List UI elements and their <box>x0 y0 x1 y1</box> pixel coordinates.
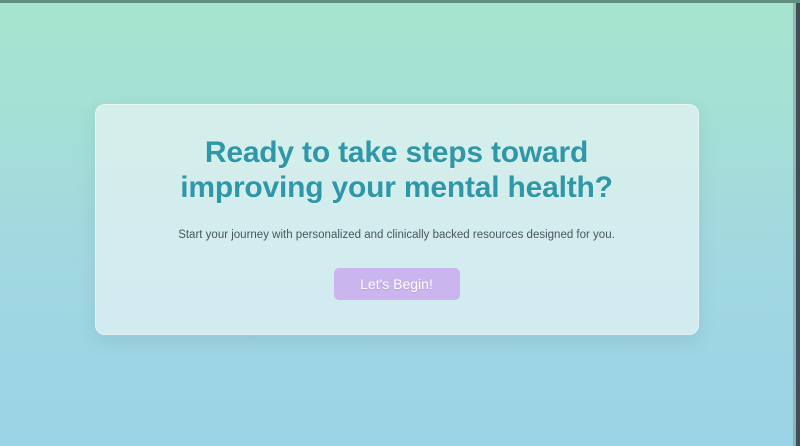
window-edge-right <box>796 0 800 446</box>
window-edge-top <box>0 0 800 3</box>
hero-section: Ready to take steps toward improving you… <box>0 0 800 446</box>
lets-begin-button[interactable]: Let's Begin! <box>334 268 460 300</box>
cta-card: Ready to take steps toward improving you… <box>95 104 699 335</box>
hero-subtext: Start your journey with personalized and… <box>136 227 658 244</box>
page-title: Ready to take steps toward improving you… <box>136 135 658 205</box>
page-root: Ready to take steps toward improving you… <box>0 0 800 446</box>
